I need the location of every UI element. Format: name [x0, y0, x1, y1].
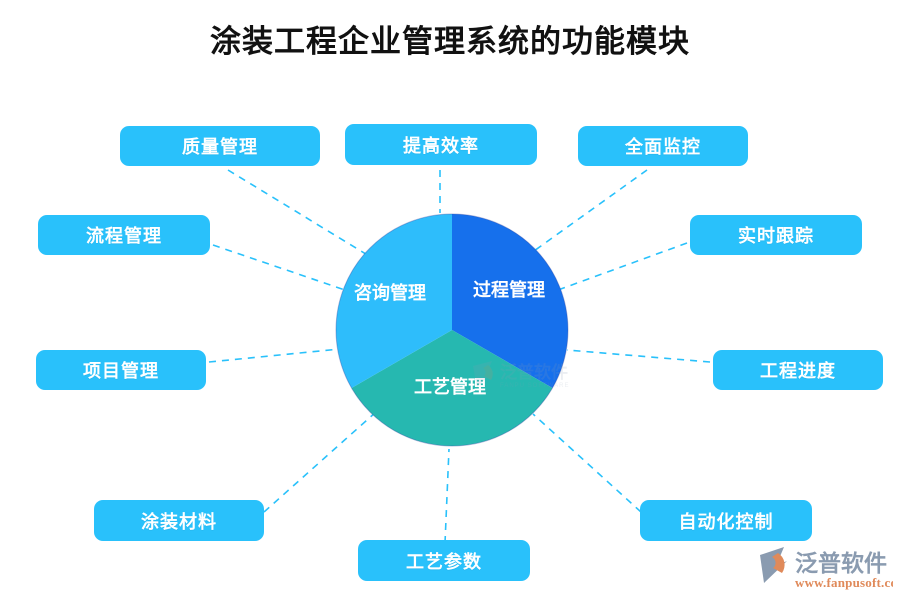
- diagram-canvas: 涂装工程企业管理系统的功能模块: [0, 0, 900, 600]
- pie-label-consulting-management: 咨询管理: [354, 282, 426, 303]
- node-coating-materials[interactable]: 涂装材料: [94, 500, 264, 541]
- node-label: 质量管理: [182, 133, 258, 159]
- pie-label-process-management: 过程管理: [473, 279, 545, 300]
- node-efficiency-improvement[interactable]: 提高效率: [345, 124, 537, 165]
- node-project-management[interactable]: 项目管理: [36, 350, 206, 390]
- node-process-parameters[interactable]: 工艺参数: [358, 540, 530, 581]
- node-label: 项目管理: [83, 357, 159, 383]
- logo-url: www.fanpusoft.com: [795, 575, 893, 590]
- node-engineering-progress[interactable]: 工程进度: [713, 350, 883, 390]
- node-label: 工艺参数: [406, 548, 482, 574]
- brand-logo: 泛普软件 www.fanpusoft.com: [757, 543, 893, 593]
- node-label: 工程进度: [760, 357, 836, 383]
- node-process-flow-management[interactable]: 流程管理: [38, 215, 210, 255]
- node-automation-control[interactable]: 自动化控制: [640, 500, 812, 541]
- node-comprehensive-monitoring[interactable]: 全面监控: [578, 126, 748, 166]
- node-label: 自动化控制: [679, 508, 774, 534]
- logo-name-cn: 泛普软件: [795, 550, 887, 576]
- node-label: 提高效率: [403, 132, 479, 158]
- node-quality-management[interactable]: 质量管理: [120, 126, 320, 166]
- pie-label-craft-management: 工艺管理: [414, 376, 486, 397]
- logo-mark: [760, 547, 787, 583]
- node-label: 涂装材料: [141, 508, 217, 534]
- node-label: 全面监控: [625, 133, 701, 159]
- node-real-time-tracking[interactable]: 实时跟踪: [690, 215, 862, 255]
- node-label: 流程管理: [86, 222, 162, 248]
- node-label: 实时跟踪: [738, 222, 814, 248]
